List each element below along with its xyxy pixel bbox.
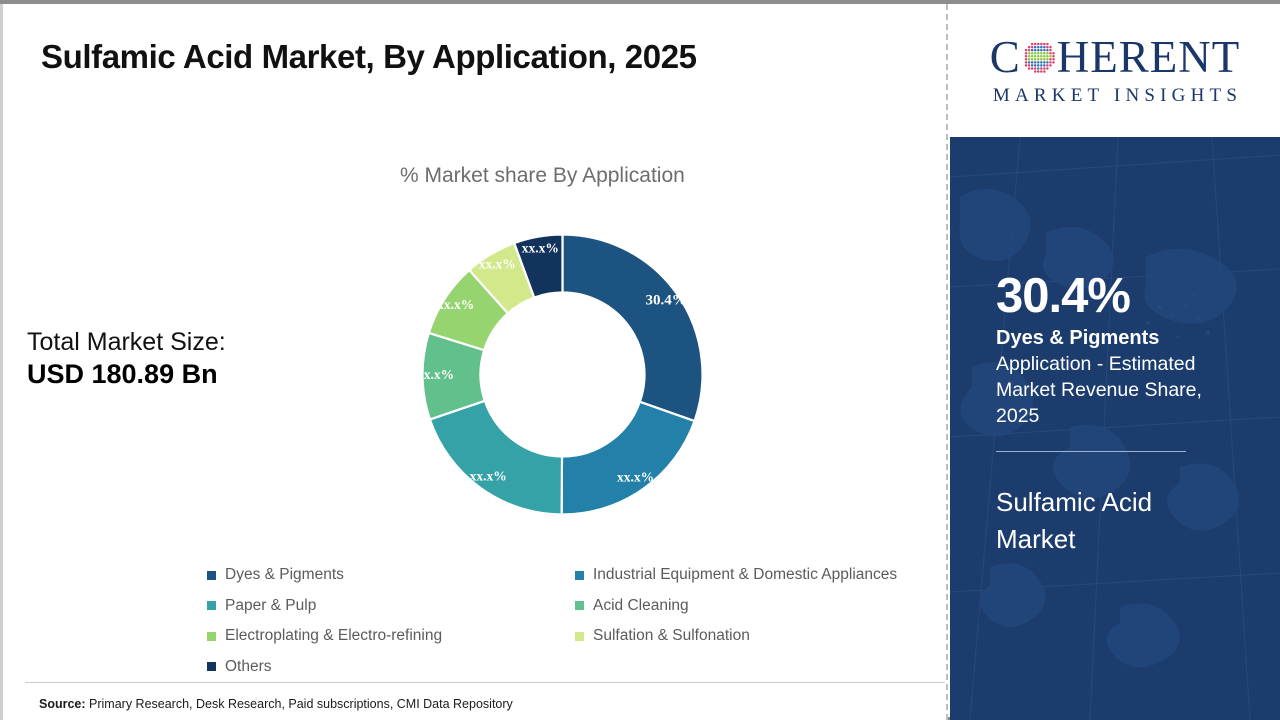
legend-swatch-icon <box>575 571 584 580</box>
right-stat-panel: 30.4% Dyes & Pigments Application - Esti… <box>950 137 1280 720</box>
legend-label: Others <box>225 658 272 676</box>
legend-swatch-icon <box>207 571 216 580</box>
donut-slice-label: xx.x% <box>479 257 516 272</box>
legend-item[interactable]: Industrial Equipment & Domestic Applianc… <box>575 566 947 584</box>
total-market-size-block: Total Market Size: USD 180.89 Bn <box>27 328 226 390</box>
donut-chart-svg: 30.4%xx.x%xx.x%xx.x%xx.x%xx.x%xx.x% <box>422 234 703 515</box>
donut-slice <box>562 402 695 515</box>
source-note: Source: Primary Research, Desk Research,… <box>39 697 513 711</box>
source-text: Primary Research, Desk Research, Paid su… <box>86 697 513 711</box>
logo-letter-c: C <box>990 35 1021 80</box>
chart-legend: Dyes & PigmentsIndustrial Equipment & Do… <box>207 560 947 682</box>
right-panel-content: 30.4% Dyes & Pigments Application - Esti… <box>996 272 1236 558</box>
legend-label: Paper & Pulp <box>225 597 316 615</box>
stat-category: Dyes & Pigments <box>996 326 1236 350</box>
donut-slice-label: xx.x% <box>437 297 474 312</box>
donut-chart: 30.4%xx.x%xx.x%xx.x%xx.x%xx.x%xx.x% <box>422 234 703 515</box>
market-name: Sulfamic Acid Market <box>996 484 1236 558</box>
legend-label: Acid Cleaning <box>593 597 689 615</box>
donut-slice <box>430 401 562 515</box>
legend-label: Dyes & Pigments <box>225 566 344 584</box>
stat-description: Application - Estimated Market Revenue S… <box>996 351 1236 429</box>
source-divider <box>25 682 945 683</box>
source-label: Source: <box>39 697 86 711</box>
donut-slice-label: xx.x% <box>522 241 559 256</box>
stat-value: 30.4% <box>996 272 1236 322</box>
legend-item[interactable]: Acid Cleaning <box>575 597 947 615</box>
page-title: Sulfamic Acid Market, By Application, 20… <box>41 38 697 76</box>
globe-icon <box>1022 40 1056 74</box>
left-panel: Sulfamic Acid Market, By Application, 20… <box>0 4 946 720</box>
legend-swatch-icon <box>207 632 216 641</box>
logo-tagline: MARKET INSIGHTS <box>988 85 1242 107</box>
legend-item[interactable]: Sulfation & Sulfonation <box>575 627 947 645</box>
legend-item[interactable]: Dyes & Pigments <box>207 566 575 584</box>
legend-item[interactable]: Others <box>207 658 575 676</box>
brand-logo: C HERENT MARKET INSIGHTS <box>950 4 1280 137</box>
stat-divider <box>996 451 1186 452</box>
donut-slice-group <box>423 235 703 515</box>
donut-slice-label: xx.x% <box>422 367 454 382</box>
logo-wordmark-row: C HERENT <box>990 35 1241 80</box>
legend-item[interactable]: Electroplating & Electro-refining <box>207 627 575 645</box>
legend-swatch-icon <box>207 601 216 610</box>
donut-slice-label: 30.4% <box>646 293 687 309</box>
legend-label: Industrial Equipment & Domestic Applianc… <box>593 566 897 584</box>
legend-label: Sulfation & Sulfonation <box>593 627 750 645</box>
chart-subtitle: % Market share By Application <box>400 164 685 188</box>
legend-swatch-icon <box>207 662 216 671</box>
panel-divider <box>946 4 948 720</box>
donut-slice <box>563 235 703 422</box>
legend-swatch-icon <box>575 632 584 641</box>
donut-slice-label: xx.x% <box>617 469 654 484</box>
infographic-container: Sulfamic Acid Market, By Application, 20… <box>0 0 1280 720</box>
total-market-size-value: USD 180.89 Bn <box>27 359 226 390</box>
logo-letters-herent: HERENT <box>1057 35 1240 80</box>
legend-item[interactable]: Paper & Pulp <box>207 597 575 615</box>
total-market-size-label: Total Market Size: <box>27 328 226 357</box>
legend-label: Electroplating & Electro-refining <box>225 627 442 645</box>
legend-swatch-icon <box>575 601 584 610</box>
donut-slice-label: xx.x% <box>470 469 507 484</box>
